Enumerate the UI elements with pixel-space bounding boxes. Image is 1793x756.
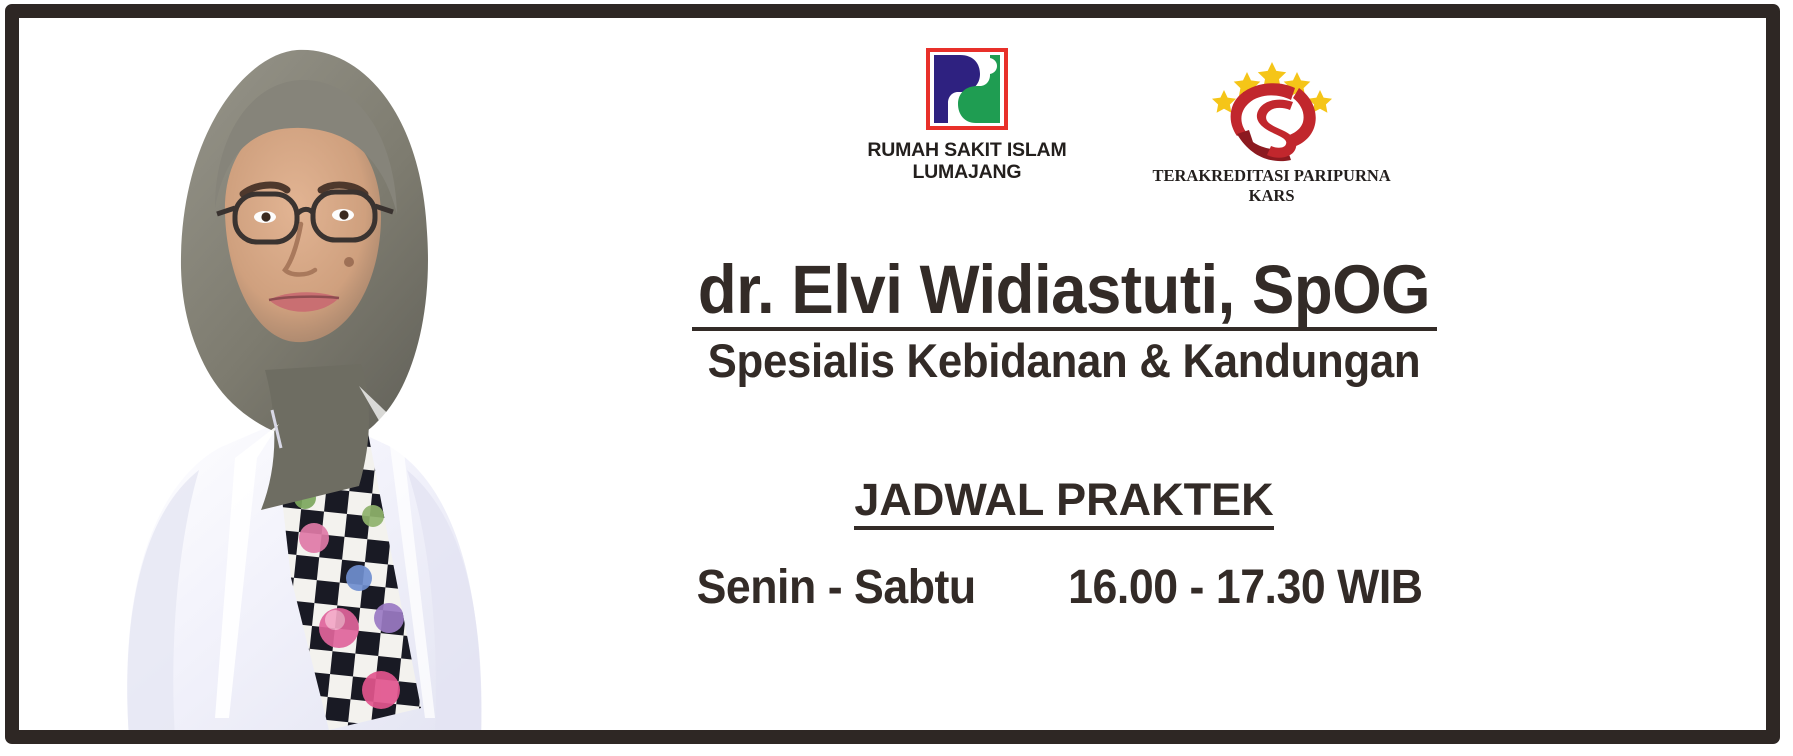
schedule-row: Senin - Sabtu 16.00 - 17.30 WIB xyxy=(613,560,1515,615)
doctor-portrait-illustration xyxy=(29,18,539,738)
eye-right xyxy=(339,210,348,219)
kars-logo-caption: TERAKREDITASI PARIPURNA KARS xyxy=(1152,166,1390,206)
kars-logo-block: TERAKREDITASI PARIPURNA KARS xyxy=(1152,48,1390,206)
schedule-days: Senin - Sabtu xyxy=(683,560,990,615)
rsi-logo-block: RUMAH SAKIT ISLAM LUMAJANG xyxy=(867,48,1066,183)
doctor-photo xyxy=(29,18,539,738)
logo-row: RUMAH SAKIT ISLAM LUMAJANG xyxy=(809,48,1449,228)
doctor-specialty: Spesialis Kebidanan & Kandungan xyxy=(613,335,1515,387)
schedule-hours: 16.00 - 17.30 WIB xyxy=(1045,560,1445,615)
rsi-logo-caption: RUMAH SAKIT ISLAM LUMAJANG xyxy=(867,139,1066,183)
kars-paripurna-icon xyxy=(1207,48,1337,164)
banner-canvas: RUMAH SAKIT ISLAM LUMAJANG xyxy=(19,18,1774,738)
mole xyxy=(344,257,354,267)
doctor-name: dr. Elvi Widiastuti, SpOG xyxy=(618,254,1510,326)
schedule-heading-underline xyxy=(854,526,1274,530)
doctor-info-block: dr. Elvi Widiastuti, SpOG Spesialis Kebi… xyxy=(579,254,1549,615)
eye-left xyxy=(261,212,270,221)
doctor-schedule-banner: RUMAH SAKIT ISLAM LUMAJANG xyxy=(0,0,1793,756)
rsi-lumajang-icon xyxy=(926,48,1008,130)
schedule-heading: JADWAL PRAKTEK xyxy=(579,476,1549,523)
